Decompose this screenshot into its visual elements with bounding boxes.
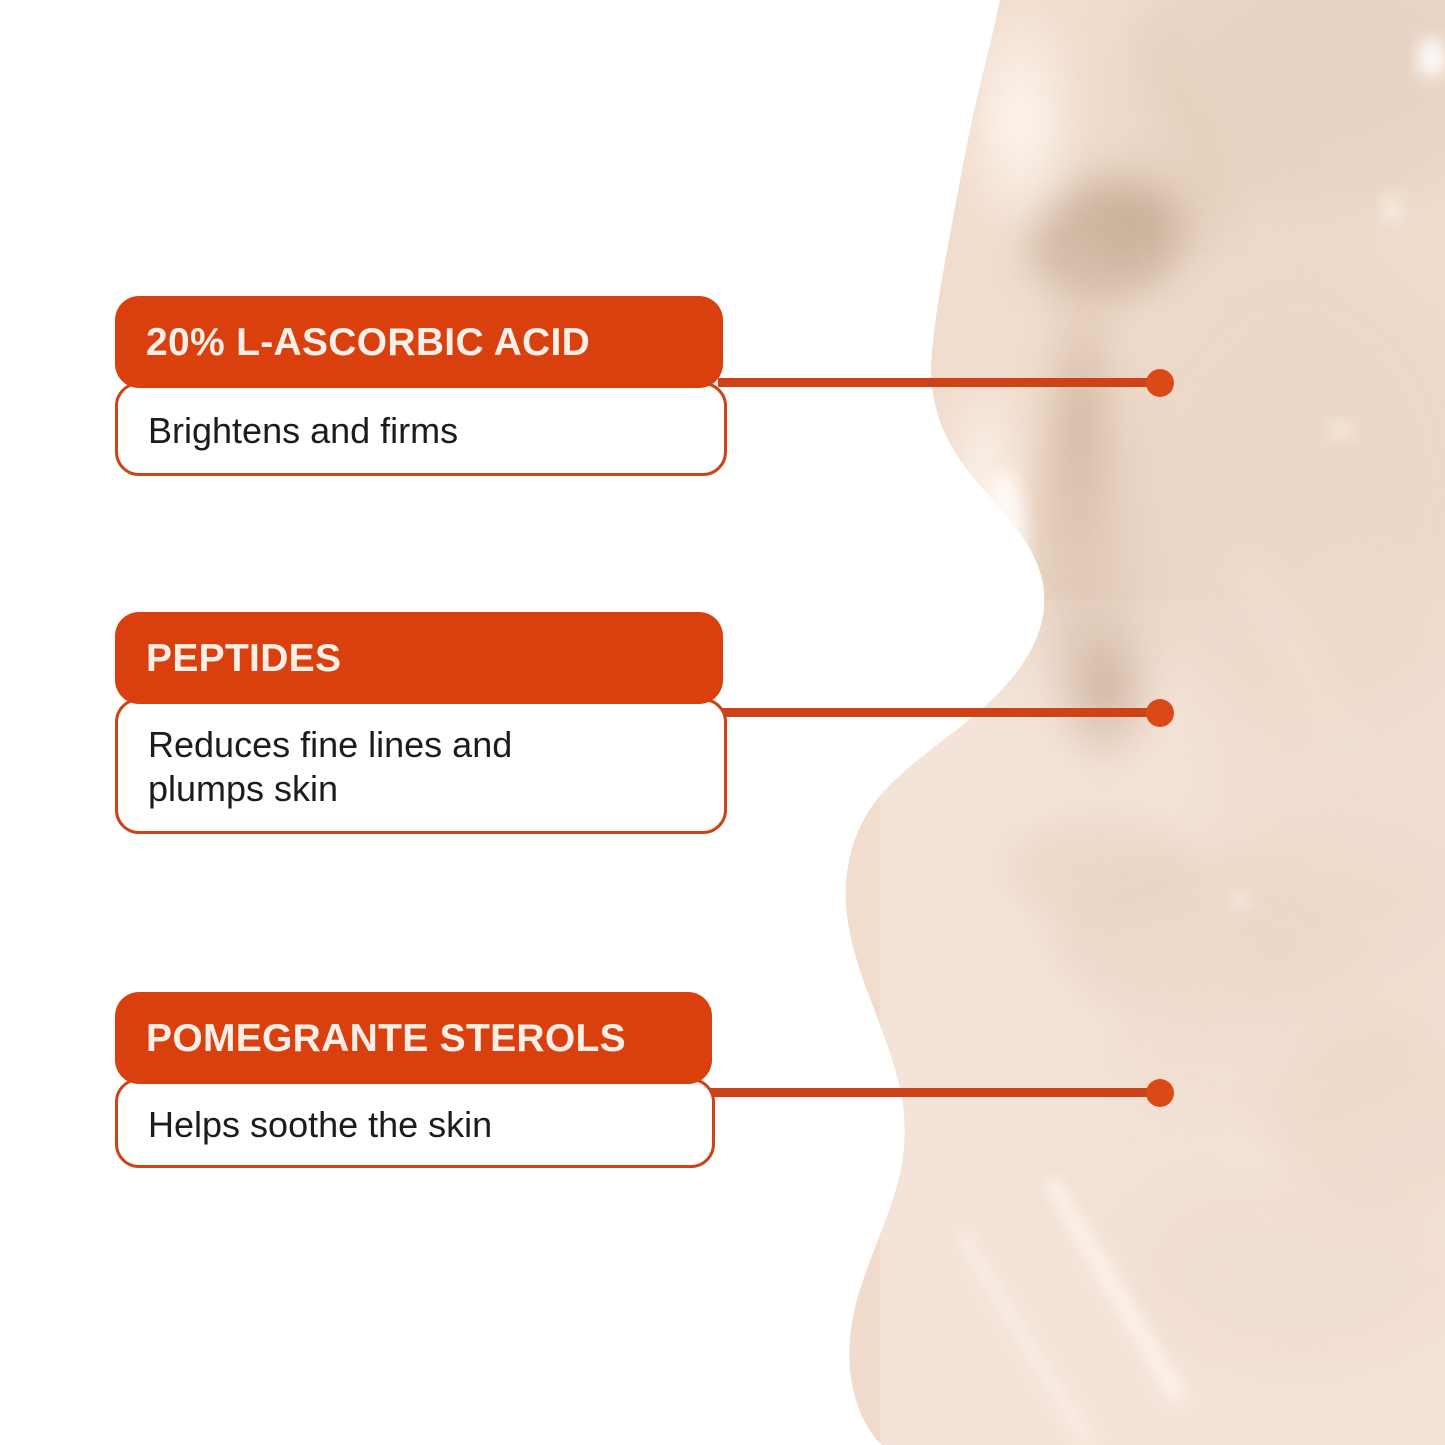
callout-title-peptides: PEPTIDES [115, 639, 341, 678]
callout-card-body-pomegrante: Helps soothe the skin [115, 1078, 715, 1168]
connector-dot-pomegrante [1146, 1079, 1174, 1107]
callout-card-ascorbic: Brightens and firms 20% L-ASCORBIC ACID [115, 296, 727, 476]
connector-line-pomegrante [706, 1088, 1162, 1097]
callout-card-pomegrante: Helps soothe the skin POMEGRANTE STEROLS [115, 992, 715, 1168]
callout-title-pomegrante: POMEGRANTE STEROLS [115, 1019, 626, 1058]
ingredient-callout-infographic: Brightens and firms 20% L-ASCORBIC ACID … [0, 0, 1445, 1445]
callout-card-header-peptides: PEPTIDES [115, 612, 723, 704]
callout-description-peptides: Reduces fine lines and plumps skin [118, 723, 724, 811]
callout-card-header-ascorbic: 20% L-ASCORBIC ACID [115, 296, 723, 388]
connector-dot-ascorbic [1146, 369, 1174, 397]
connector-line-ascorbic [718, 378, 1162, 387]
callout-description-ascorbic: Brightens and firms [118, 409, 724, 453]
callout-card-body-peptides: Reduces fine lines and plumps skin [115, 698, 727, 834]
connector-line-peptides [718, 708, 1162, 717]
callout-card-body-ascorbic: Brightens and firms [115, 382, 727, 476]
callout-description-pomegrante: Helps soothe the skin [118, 1103, 712, 1147]
callout-card-peptides: Reduces fine lines and plumps skin PEPTI… [115, 612, 727, 834]
connector-dot-peptides [1146, 699, 1174, 727]
callout-card-header-pomegrante: POMEGRANTE STEROLS [115, 992, 712, 1084]
callout-title-ascorbic: 20% L-ASCORBIC ACID [115, 323, 590, 362]
